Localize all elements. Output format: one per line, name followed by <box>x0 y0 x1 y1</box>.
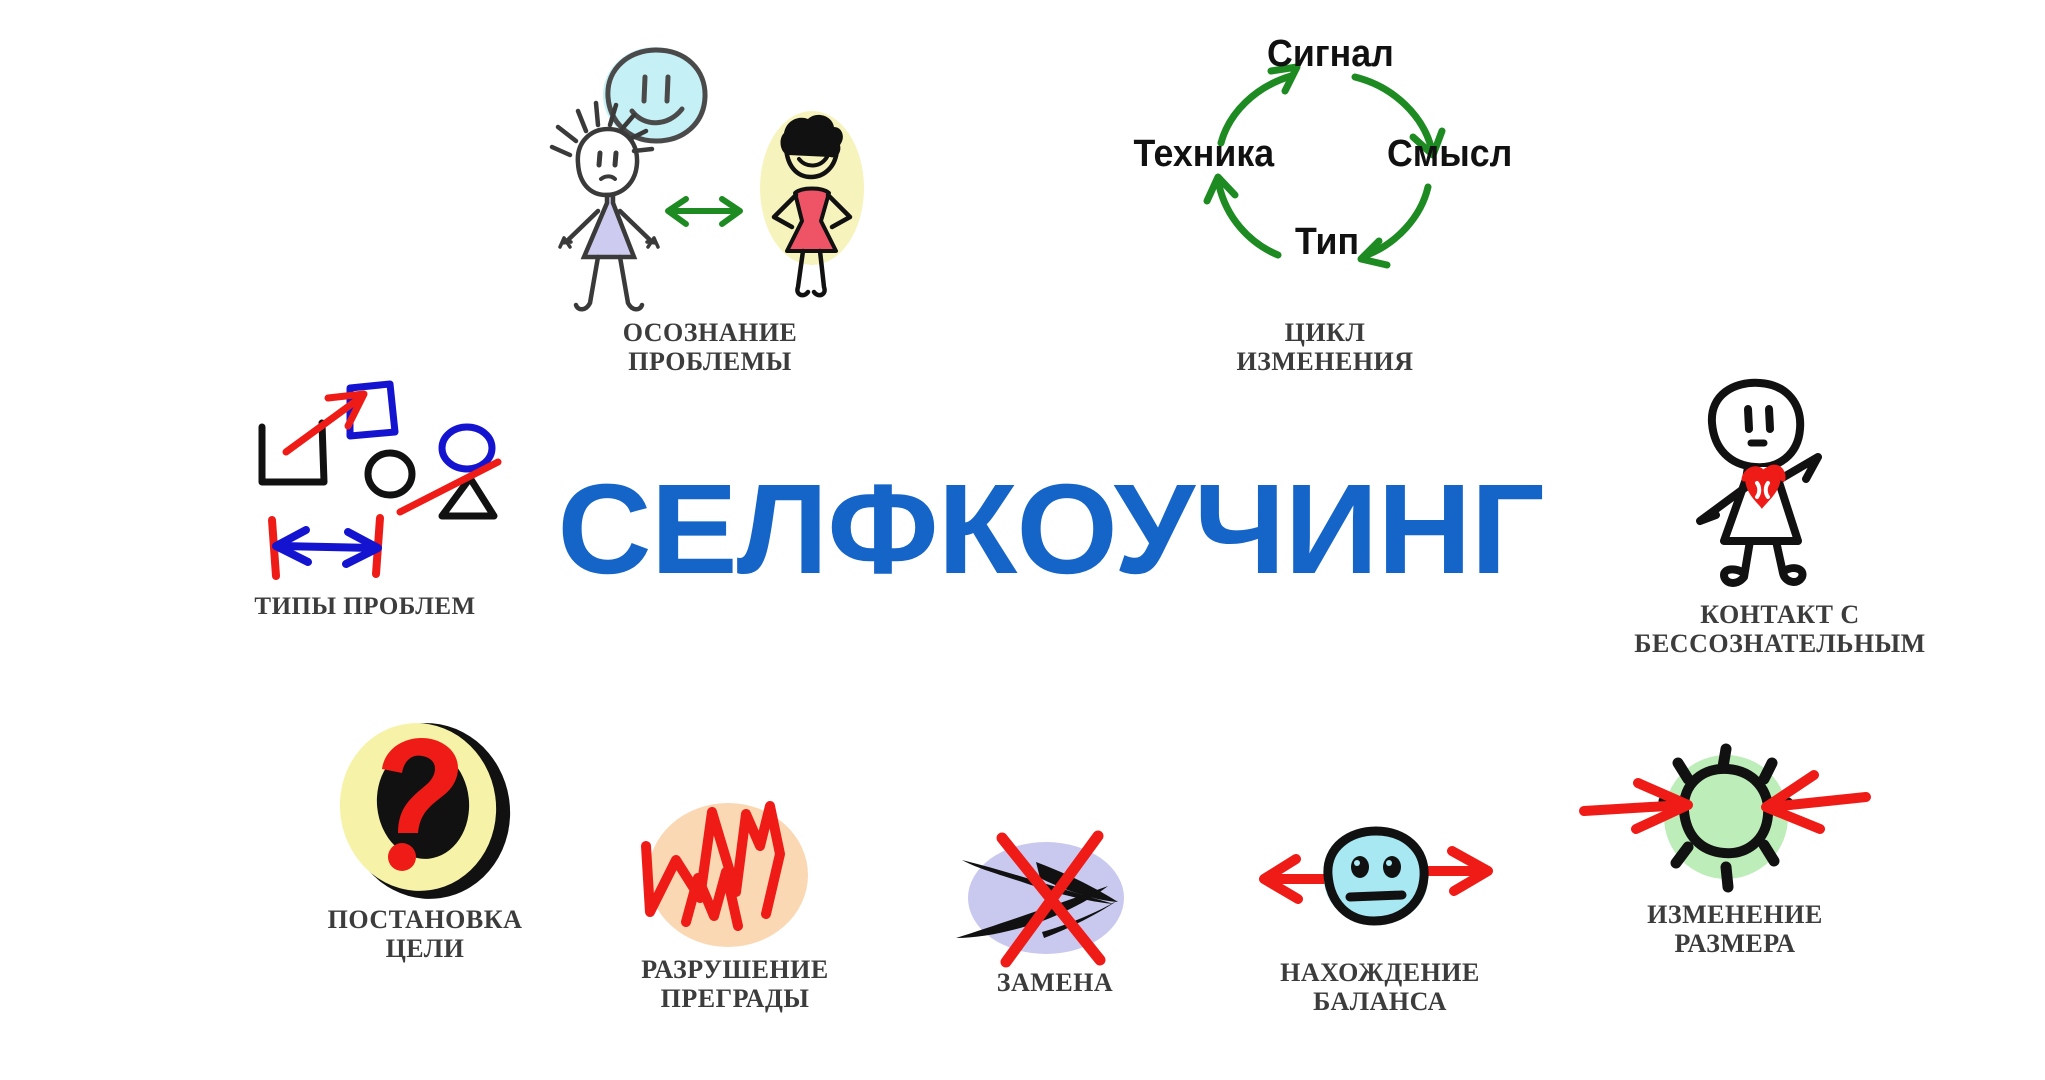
caption-barrier-destruction: РАЗРУШЕНИЕ ПРЕГРАДЫ <box>600 955 870 1013</box>
figure-with-heart-icon <box>1650 375 1900 605</box>
two-figures-awareness-icon <box>540 35 880 315</box>
caption-awareness: ОСОЗНАНИЕ ПРОБЛЕМЫ <box>530 318 890 376</box>
stressed-stick-figure-icon <box>552 103 658 309</box>
caption-problem-types: ТИПЫ ПРОБЛЕМ <box>195 593 535 621</box>
arc-type-to-technique <box>1219 185 1278 255</box>
question-mark-dot <box>388 843 416 871</box>
page-title: СЕЛФКОУЧИНГ <box>557 466 1543 594</box>
caption-finding-balance: НАХОЖДЕНИЕ БАЛАНСА <box>1240 958 1520 1016</box>
replacement-icon-group <box>940 820 1160 980</box>
face-with-side-arrows-icon <box>1250 805 1500 965</box>
page-title-wrap: СЕЛФКОУЧИНГ <box>520 455 1580 605</box>
cycle-step-type: Тип <box>1295 221 1359 264</box>
cycle-step-signal: Сигнал <box>1267 33 1394 76</box>
problem-types-icon <box>230 370 500 590</box>
unconscious-contact-icon-group <box>1650 375 1900 605</box>
question-mark-oval-icon <box>320 715 530 905</box>
barrier-destruction-icon-group <box>620 790 840 960</box>
crossed-out-arrows-icon <box>940 820 1160 980</box>
awareness-icon-group <box>540 35 880 315</box>
happy-woman-icon <box>760 111 864 295</box>
width-measure-icon <box>272 518 380 576</box>
cycle-step-technique: Техника <box>1133 133 1274 176</box>
cycle-step-meaning: Смысл <box>1387 133 1512 176</box>
size-change-icon-group <box>1580 745 1870 905</box>
change-cycle-icon-group: Сигнал Смысл Тип Техника <box>1115 25 1535 305</box>
red-zigzag-flame-icon <box>620 790 840 960</box>
caption-goal-setting: ПОСТАНОВКА ЦЕЛИ <box>265 905 585 963</box>
finding-balance-icon-group <box>1250 805 1500 965</box>
caption-size-change: ИЗМЕНЕНИЕ РАЗМЕРА <box>1590 900 1880 958</box>
goal-setting-icon-group <box>320 715 530 905</box>
problem-types-icon-group <box>230 370 500 590</box>
caption-change-cycle: ЦИКЛ ИЗМЕНЕНИЯ <box>1140 318 1510 376</box>
blue-circle-shape <box>442 427 492 469</box>
caption-unconscious-contact: КОНТАКТ С БЕССОЗНАТЕЛЬНЫМ <box>1580 600 1980 658</box>
caption-replacement: ЗАМЕНА <box>950 968 1160 997</box>
sun-with-inward-arrows-icon <box>1580 745 1870 905</box>
black-circle-shape <box>368 453 412 495</box>
neutral-mouth <box>1350 895 1402 897</box>
double-arrow-green-icon <box>668 199 740 224</box>
infographic-canvas: ОСОЗНАНИЕ ПРОБЛЕМЫ Сигнал Смысл Тип Техн… <box>0 0 2045 1080</box>
